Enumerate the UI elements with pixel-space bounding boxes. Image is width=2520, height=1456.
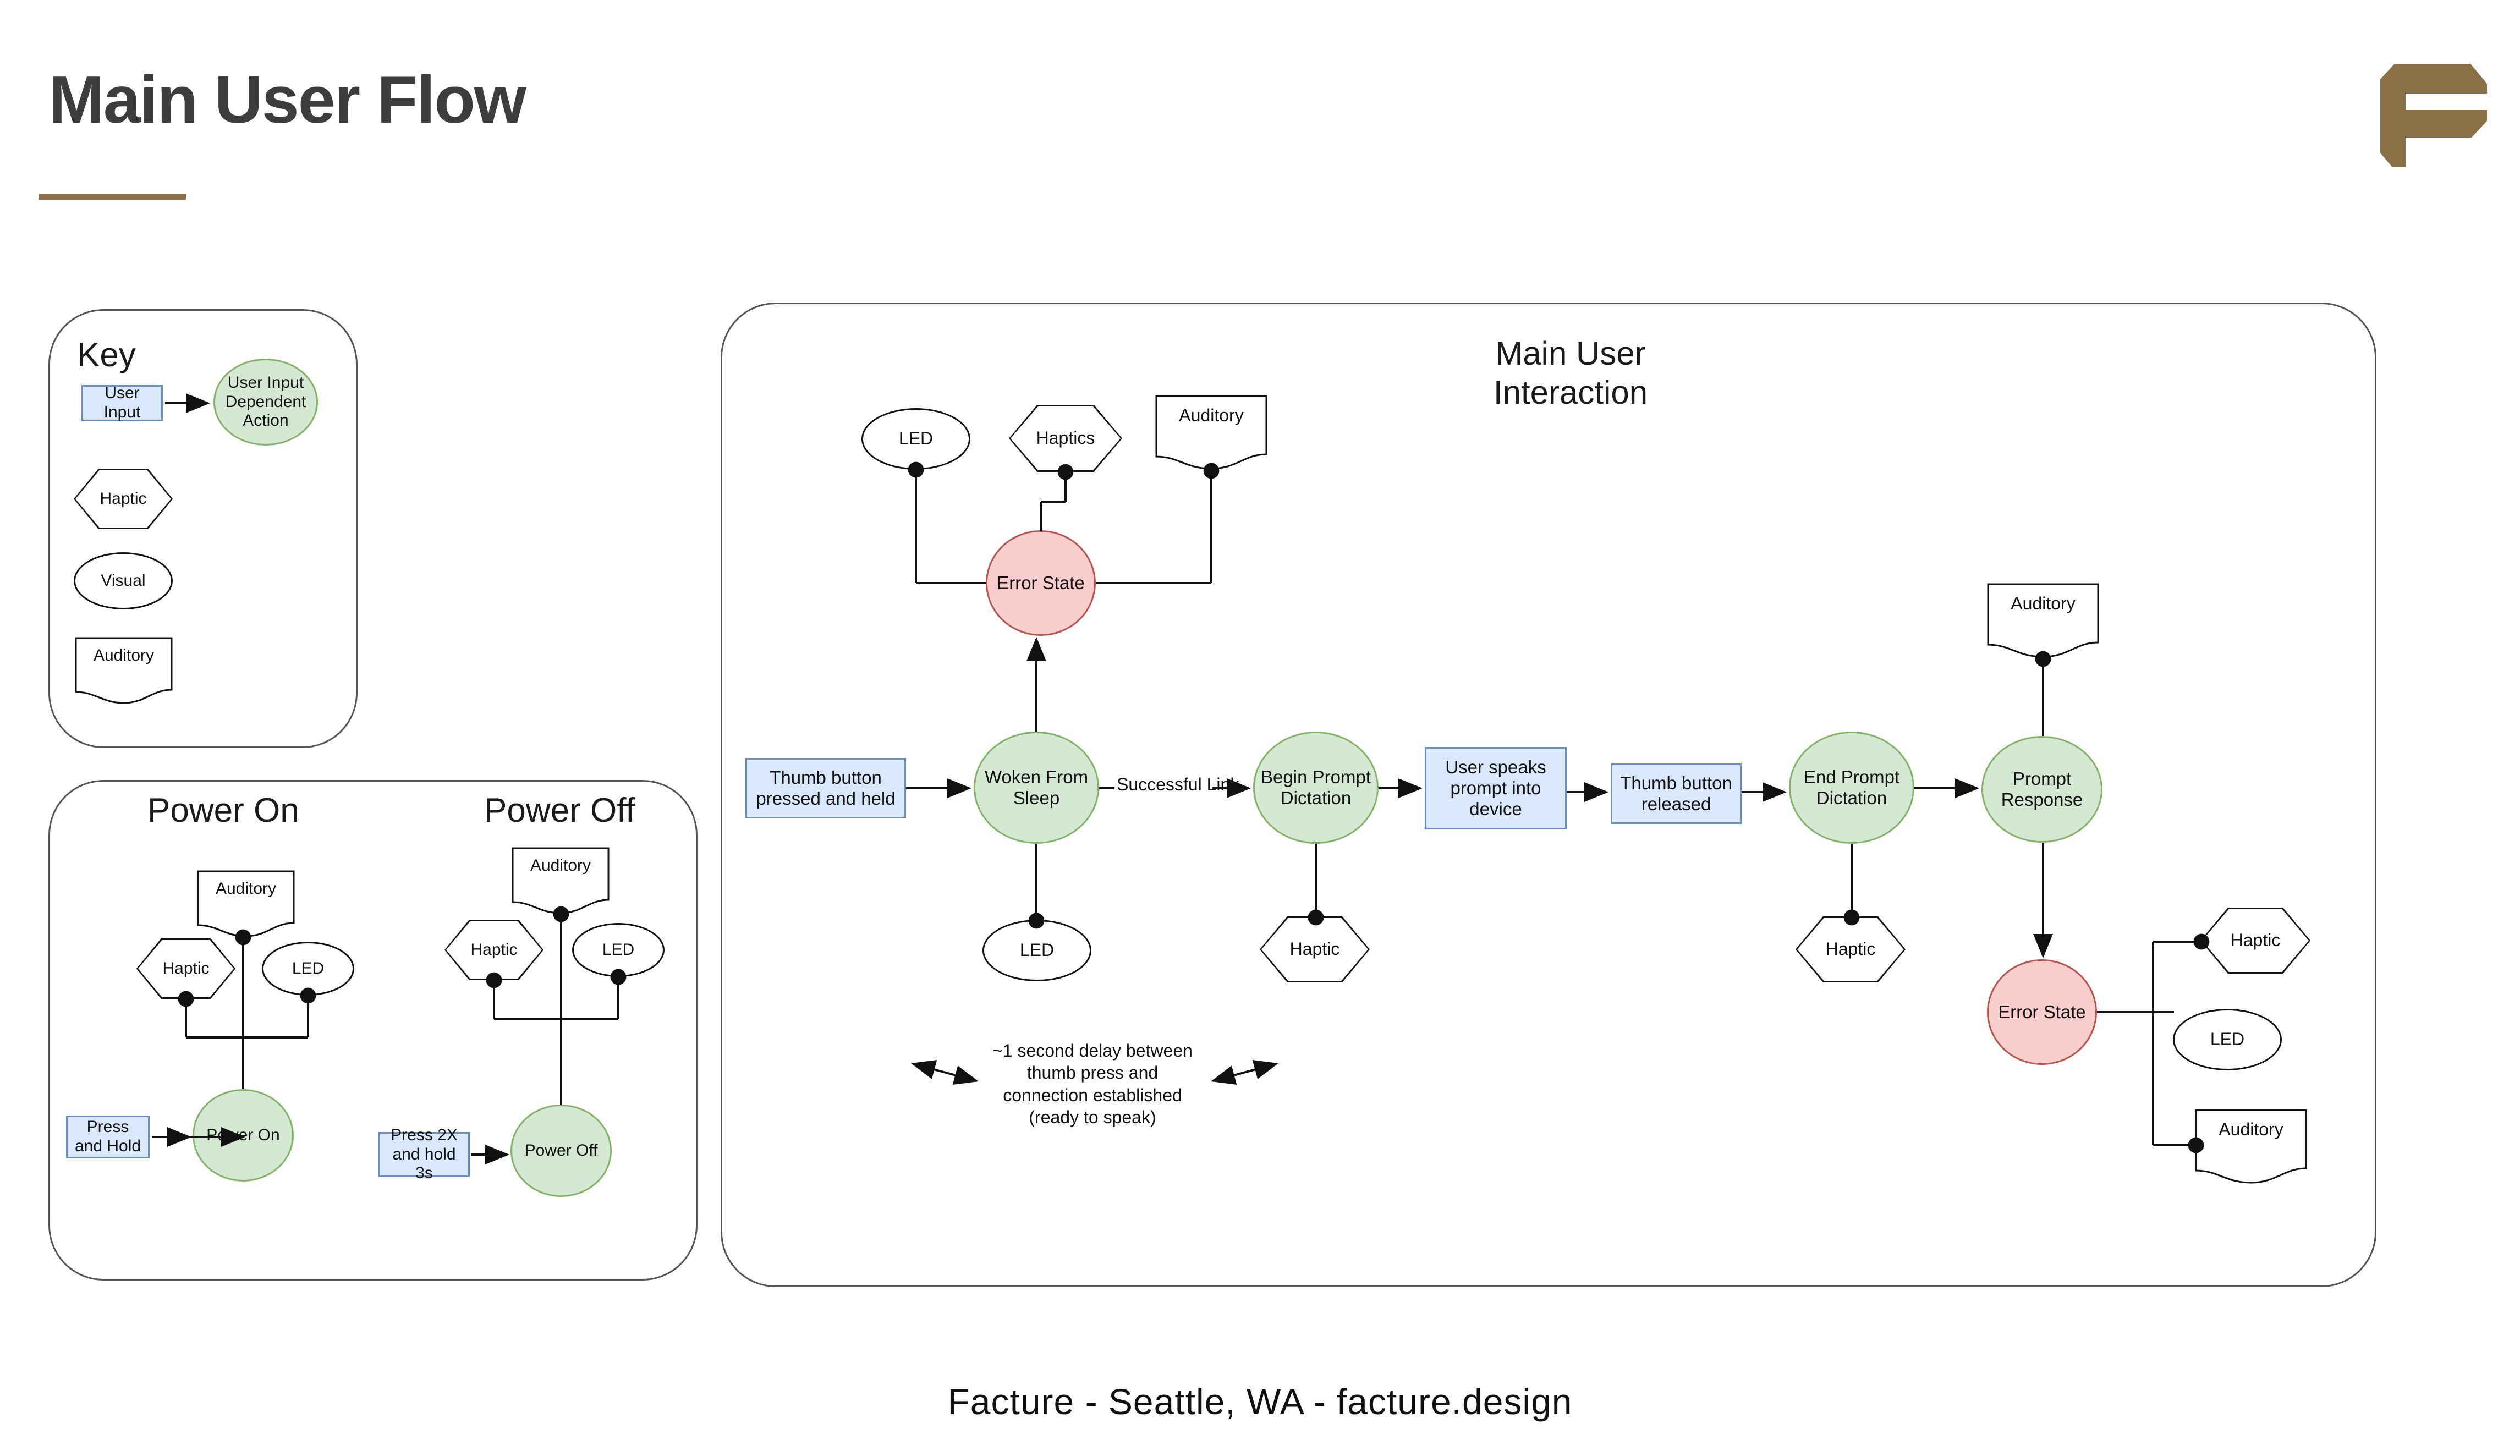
power-on-state-node: Power On: [193, 1089, 294, 1182]
key-user-input-box: User Input: [81, 385, 163, 421]
prompt-response-auditory-shape: Auditory: [1987, 583, 2099, 659]
key-auditory-shape: Auditory: [75, 637, 173, 704]
power-off-heading: Power Off: [484, 791, 635, 830]
power-off-auditory-shape: Auditory: [512, 847, 610, 914]
error-state-top-node: Error State: [986, 530, 1096, 636]
error-bottom-auditory-shape: Auditory: [2195, 1109, 2307, 1185]
power-off-led-shape: LED: [572, 923, 665, 977]
main-panel-heading: Main User Interaction: [1461, 334, 1681, 413]
successful-link-label: Successful Link: [1114, 774, 1241, 795]
flow-begin-prompt-dictation-node: Begin Prompt Dictation: [1253, 732, 1379, 844]
flow-thumb-button-pressed-box: Thumb button pressed and held: [745, 758, 906, 818]
title-accent-rule: [39, 194, 186, 200]
page-title: Main User Flow: [48, 66, 525, 133]
facture-logo-icon: [2360, 51, 2487, 169]
key-visual-shape: Visual: [74, 552, 173, 609]
power-off-trigger-box: Press 2X and hold 3s: [378, 1132, 470, 1177]
power-on-heading: Power On: [147, 791, 299, 830]
flow-prompt-response-node: Prompt Response: [1981, 736, 2102, 843]
flow-user-speaks-prompt-box: User speaks prompt into device: [1425, 747, 1567, 829]
error-state-bottom-node: Error State: [1987, 959, 2097, 1065]
error-top-auditory-shape: Auditory: [1155, 395, 1267, 471]
woken-led-shape: LED: [982, 920, 1091, 981]
flow-woken-from-sleep-node: Woken From Sleep: [974, 732, 1099, 844]
flow-end-prompt-dictation-node: End Prompt Dictation: [1789, 732, 1914, 844]
key-panel-heading: Key: [77, 336, 136, 375]
power-off-state-node: Power Off: [510, 1105, 612, 1197]
error-bottom-led-shape: LED: [2173, 1009, 2282, 1070]
flow-thumb-button-released-box: Thumb button released: [1611, 763, 1742, 824]
error-top-led-shape: LED: [861, 408, 970, 470]
power-on-auditory-shape: Auditory: [197, 870, 295, 937]
key-dependent-action-node: User Input Dependent Action: [213, 359, 318, 446]
power-on-trigger-box: Press and Hold: [66, 1116, 150, 1158]
delay-note-text: ~1 second delay between thumb press and …: [982, 1040, 1203, 1128]
footer-text: Facture - Seattle, WA - facture.design: [0, 1381, 2520, 1422]
power-on-led-shape: LED: [262, 942, 354, 996]
